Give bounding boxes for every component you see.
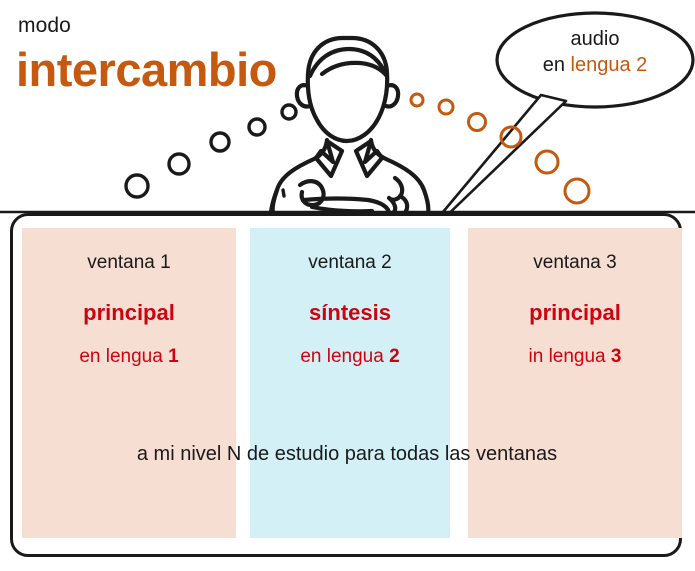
bubble-prefix: en bbox=[543, 54, 571, 76]
window-2-language-prefix: en lengua bbox=[300, 346, 389, 367]
window-1-role: principal bbox=[22, 300, 236, 326]
speech-bubble-text: audio en lengua 2 bbox=[505, 26, 685, 79]
page-title: intercambio bbox=[16, 42, 277, 97]
window-3-label: ventana 3 bbox=[468, 252, 682, 274]
window-3-role: principal bbox=[468, 300, 682, 326]
window-column-2[interactable]: ventana 2 síntesis en lengua 2 bbox=[250, 228, 450, 538]
bubble-line-2: en lengua 2 bbox=[505, 52, 685, 78]
window-1-language-prefix: en lengua bbox=[79, 346, 168, 367]
windows-columns: ventana 1 principal en lengua 1 ventana … bbox=[22, 228, 672, 538]
window-3-language-number: 3 bbox=[611, 346, 622, 367]
bubble-line-1: audio bbox=[505, 26, 685, 52]
window-column-1-content: ventana 1 principal en lengua 1 bbox=[22, 252, 236, 368]
window-2-language: en lengua 2 bbox=[250, 346, 450, 368]
window-column-3-content: ventana 3 principal in lengua 3 bbox=[468, 252, 682, 368]
window-1-language: en lengua 1 bbox=[22, 346, 236, 368]
window-3-language: in lengua 3 bbox=[468, 346, 682, 368]
diagram-canvas: modo intercambio bbox=[0, 0, 695, 571]
thought-bubbles-right bbox=[411, 94, 589, 203]
window-1-label: ventana 1 bbox=[22, 252, 236, 274]
window-3-language-prefix: in lengua bbox=[529, 346, 611, 367]
kicker-label: modo bbox=[18, 14, 71, 38]
bubble-accent: lengua 2 bbox=[571, 54, 648, 76]
thought-bubbles-left bbox=[126, 105, 296, 197]
window-column-3[interactable]: ventana 3 principal in lengua 3 bbox=[468, 228, 682, 538]
window-2-language-number: 2 bbox=[389, 346, 400, 367]
window-2-role: síntesis bbox=[250, 300, 450, 326]
window-column-1[interactable]: ventana 1 principal en lengua 1 bbox=[22, 228, 236, 538]
panel-footnote: a mi nivel N de estudio para todas las v… bbox=[22, 443, 672, 466]
window-1-language-number: 1 bbox=[168, 346, 179, 367]
window-column-2-content: ventana 2 síntesis en lengua 2 bbox=[250, 252, 450, 368]
window-2-label: ventana 2 bbox=[250, 252, 450, 274]
